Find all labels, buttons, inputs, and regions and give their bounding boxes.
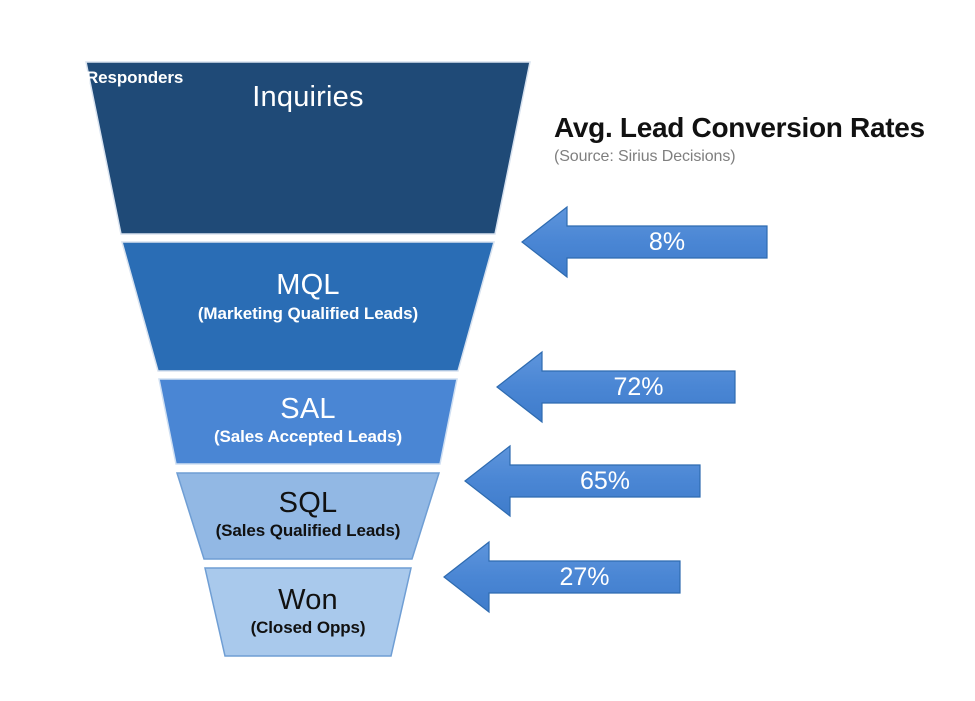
conversion-rate-label-8: 8%	[567, 228, 767, 257]
conversion-arrow-labels: 8% 72% 65% 27%	[0, 0, 975, 701]
conversion-rate-label-72: 72%	[542, 373, 735, 402]
conversion-rate-label-27: 27%	[489, 563, 680, 592]
conversion-rate-label-65: 65%	[510, 467, 700, 496]
funnel-diagram: Inquiries Contact Us Email Subscribers E…	[0, 0, 975, 701]
